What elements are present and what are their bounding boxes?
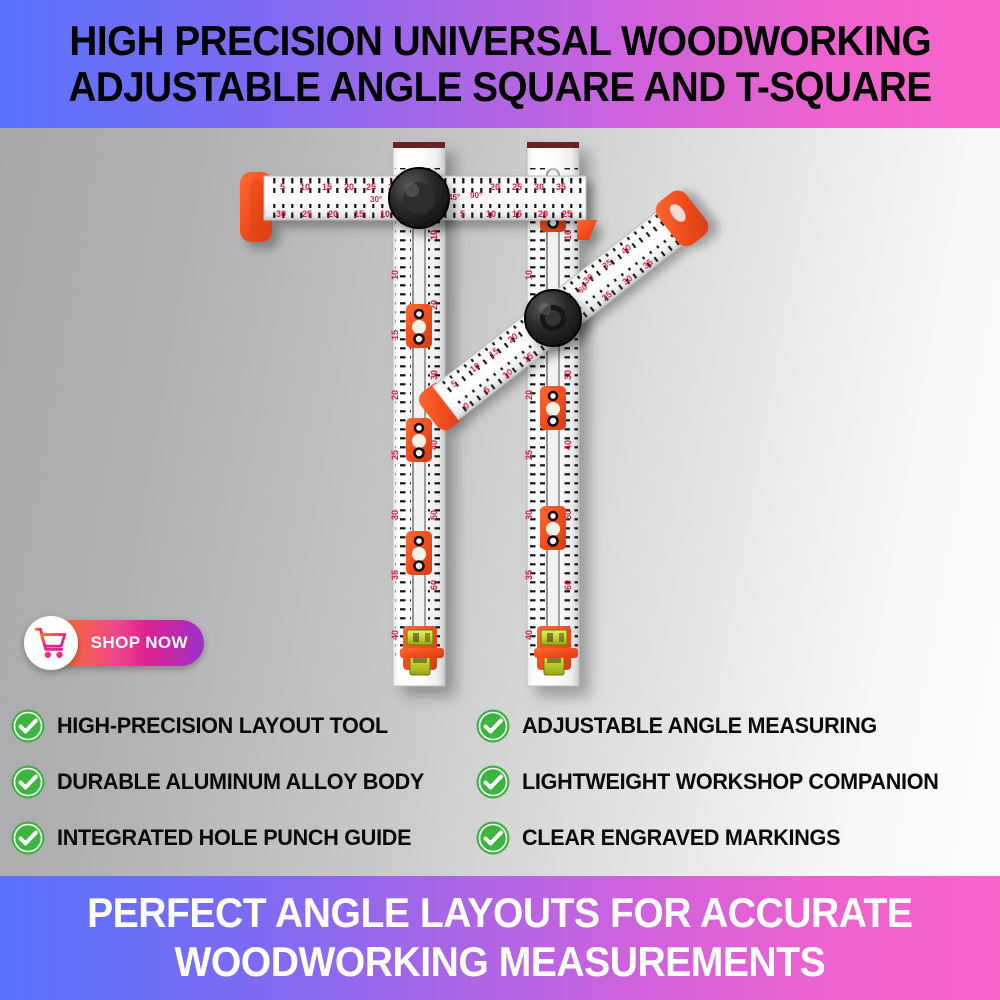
shop-now-button[interactable]: SHOP NOW: [24, 616, 204, 670]
check-circle-icon: [475, 820, 511, 856]
svg-text:30: 30: [276, 209, 286, 219]
svg-text:40: 40: [563, 440, 573, 450]
shop-now-icon-circle[interactable]: [24, 616, 78, 670]
svg-text:20: 20: [490, 182, 500, 192]
feature-label: DURABLE ALUMINUM ALLOY BODY: [57, 769, 424, 795]
feature-column-left: HIGH-PRECISION LAYOUT TOOL DURABLE ALUMI…: [10, 698, 480, 866]
header-banner: HIGH PRECISION UNIVERSAL WOODWORKING ADJ…: [0, 0, 1000, 128]
footer-title-line2: WOODWORKING MEASUREMENTS: [175, 941, 826, 984]
header-title-line2: ADJUSTABLE ANGLE SQUARE AND T-SQUARE: [68, 66, 931, 108]
product-advertisement: 5 10 15 20 25 30 35 40 10 20 30 40 50 60: [0, 0, 1000, 1000]
vertical-rail-right: 5 10 15 20 25 30 35 40 10 20 30 40 50 60: [524, 142, 579, 686]
svg-text:40: 40: [524, 630, 534, 640]
svg-text:20: 20: [344, 182, 354, 192]
svg-text:30: 30: [563, 370, 573, 380]
header-title-line1: HIGH PRECISION UNIVERSAL WOODWORKING: [69, 20, 931, 62]
footer-title-line1: PERFECT ANGLE LAYOUTS FOR ACCURATE: [87, 892, 912, 935]
pivot-knob-middle: [525, 290, 581, 346]
svg-text:15: 15: [390, 330, 400, 340]
check-circle-icon: [10, 708, 46, 744]
footer-banner: PERFECT ANGLE LAYOUTS FOR ACCURATE WOODW…: [0, 876, 1000, 1000]
svg-text:10: 10: [524, 270, 534, 280]
feature-column-right: ADJUSTABLE ANGLE MEASURING LIGHTWEIGHT W…: [475, 698, 1000, 866]
feature-label: ADJUSTABLE ANGLE MEASURING: [522, 713, 877, 739]
hole-punch-slider: [540, 506, 566, 550]
svg-text:40: 40: [390, 630, 400, 640]
svg-text:25: 25: [366, 182, 376, 192]
svg-text:35: 35: [556, 182, 566, 192]
check-circle-icon: [475, 708, 511, 744]
shop-now-label: SHOP NOW: [91, 633, 188, 653]
svg-text:15: 15: [354, 209, 364, 219]
svg-text:50: 50: [429, 510, 439, 520]
svg-text:35: 35: [390, 570, 400, 580]
svg-text:25: 25: [512, 182, 522, 192]
svg-text:25: 25: [390, 450, 400, 460]
feature-item: HIGH-PRECISION LAYOUT TOOL: [10, 698, 480, 754]
svg-text:60: 60: [563, 580, 573, 590]
hole-punch-slider: [406, 531, 432, 575]
feature-item: INTEGRATED HOLE PUNCH GUIDE: [10, 810, 480, 866]
check-circle-icon: [10, 820, 46, 856]
feature-item: DURABLE ALUMINUM ALLOY BODY: [10, 754, 480, 810]
svg-text:20: 20: [538, 209, 548, 219]
svg-text:20: 20: [390, 390, 400, 400]
feature-item: ADJUSTABLE ANGLE MEASURING: [475, 698, 1000, 754]
svg-text:90°: 90°: [470, 191, 482, 200]
check-circle-icon: [475, 764, 511, 800]
svg-text:10: 10: [563, 230, 573, 240]
pivot-knob-top: [389, 168, 449, 228]
svg-text:60: 60: [429, 580, 439, 590]
feature-list: HIGH-PRECISION LAYOUT TOOL DURABLE ALUMI…: [0, 698, 1000, 866]
shopping-cart-icon: [34, 626, 68, 660]
svg-text:5: 5: [460, 209, 465, 219]
svg-text:5: 5: [280, 182, 285, 192]
svg-text:10: 10: [429, 230, 439, 240]
svg-text:15: 15: [322, 182, 332, 192]
svg-text:25: 25: [524, 450, 534, 460]
svg-text:20: 20: [328, 209, 338, 219]
svg-text:25: 25: [562, 209, 572, 219]
feature-label: INTEGRATED HOLE PUNCH GUIDE: [57, 825, 411, 851]
svg-text:20: 20: [524, 390, 534, 400]
svg-text:30°: 30°: [370, 195, 382, 204]
feature-label: HIGH-PRECISION LAYOUT TOOL: [57, 713, 388, 739]
check-circle-icon: [10, 764, 46, 800]
hole-punch-slider: [406, 418, 432, 462]
svg-text:15: 15: [512, 209, 522, 219]
feature-item: LIGHTWEIGHT WORKSHOP COMPANION: [475, 754, 1000, 810]
hole-punch-slider: [406, 304, 432, 348]
svg-text:35: 35: [524, 570, 534, 580]
svg-text:30: 30: [429, 370, 439, 380]
svg-text:10: 10: [390, 270, 400, 280]
hole-punch-slider: [540, 386, 566, 430]
svg-text:30: 30: [534, 182, 544, 192]
feature-item: CLEAR ENGRAVED MARKINGS: [475, 810, 1000, 866]
svg-text:30: 30: [524, 510, 534, 520]
svg-text:25: 25: [302, 209, 312, 219]
svg-text:10: 10: [486, 209, 496, 219]
feature-label: CLEAR ENGRAVED MARKINGS: [522, 825, 840, 851]
feature-label: LIGHTWEIGHT WORKSHOP COMPANION: [522, 769, 939, 795]
svg-text:30: 30: [390, 510, 400, 520]
svg-text:10: 10: [380, 209, 390, 219]
svg-text:10: 10: [300, 182, 310, 192]
